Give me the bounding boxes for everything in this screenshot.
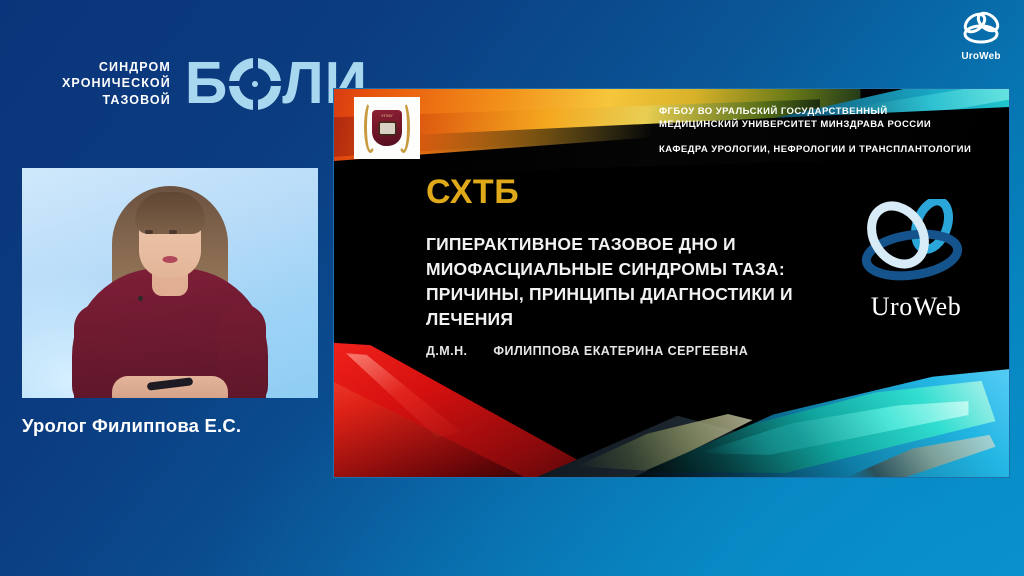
university-coat-of-arms-icon: УГМУ — [354, 97, 420, 159]
brand-logo: СИНДРОМ ХРОНИЧЕСКОЙ ТАЗОВОЙ Б ЛИ — [62, 54, 368, 113]
uroweb-watermark: UroWeb — [954, 8, 1008, 62]
uroweb-interlocking-rings-icon — [850, 199, 982, 291]
slide-title: ГИПЕРАКТИВНОЕ ТАЗОВОЕ ДНО И МИОФАСЦИАЛЬН… — [426, 232, 856, 331]
slide-author-line: Д.М.Н. ФИЛИППОВА ЕКАТЕРИНА СЕРГЕЕВНА — [426, 344, 748, 358]
crosshair-target-icon — [229, 58, 281, 110]
department-line: КАФЕДРА УРОЛОГИИ, НЕФРОЛОГИИ И ТРАНСПЛАН… — [659, 144, 999, 155]
author-name: ФИЛИППОВА ЕКАТЕРИНА СЕРГЕЕВНА — [493, 344, 748, 358]
brand-letter-before: Б — [185, 54, 228, 113]
brand-line-1: СИНДРОМ — [62, 59, 171, 75]
presenter-video-feed[interactable] — [22, 168, 318, 398]
brand-line-3: ТАЗОВОЙ — [62, 92, 171, 108]
institution-line-2: МЕДИЦИНСКИЙ УНИВЕРСИТЕТ МИНЗДРАВА РОССИИ — [659, 118, 999, 131]
presenter-eye-left — [145, 230, 153, 234]
uroweb-ribbon-icon — [957, 8, 1005, 48]
slide-uroweb-logo: UroWeb — [843, 199, 989, 322]
institution-line-1: ФГБОУ ВО УРАЛЬСКИЙ ГОСУДАРСТВЕННЫЙ — [659, 105, 999, 118]
slide-abbreviation: СХТБ — [426, 173, 519, 212]
emblem-abbreviation: УГМУ — [372, 113, 402, 118]
slide-institution-header: ФГБОУ ВО УРАЛЬСКИЙ ГОСУДАРСТВЕННЫЙ МЕДИЦ… — [659, 105, 999, 155]
brand-line-2: ХРОНИЧЕСКОЙ — [62, 75, 171, 91]
lapel-microphone-icon — [138, 296, 143, 301]
slide-uroweb-label: UroWeb — [843, 292, 989, 322]
presenter-caption: Уролог Филиппова Е.С. — [22, 415, 322, 437]
uroweb-watermark-label: UroWeb — [954, 51, 1008, 62]
presentation-slide[interactable]: УГМУ ФГБОУ ВО УРАЛЬСКИЙ ГОСУДАРСТВЕННЫЙ … — [333, 88, 1010, 478]
presenter-mouth — [163, 256, 178, 263]
presenter-hair-top — [135, 192, 205, 234]
author-degree: Д.М.Н. — [426, 344, 467, 358]
brand-logo-lines: СИНДРОМ ХРОНИЧЕСКОЙ ТАЗОВОЙ — [62, 59, 171, 108]
presenter-eye-right — [169, 230, 177, 234]
